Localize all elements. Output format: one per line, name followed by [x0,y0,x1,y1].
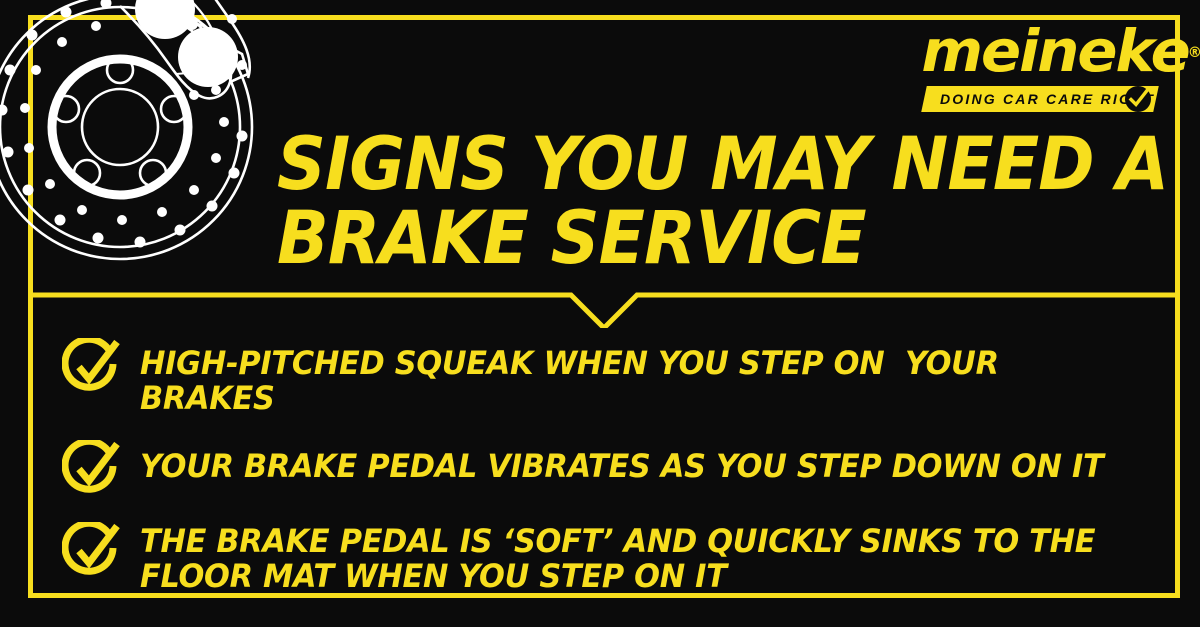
brake-rotor-illustration [0,0,300,292]
brand-name: meineke [921,17,1188,85]
brand-wordmark: meineke ® [921,22,1188,80]
check-circle-icon [62,440,122,498]
brand-tagline: DOING CAR CARE RIGHT [940,86,1155,112]
title-line-1: SIGNS YOU MAY NEED A [277,128,1049,202]
list-item-label: YOUR BRAKE PEDAL VIBRATES AS YOU STEP DO… [140,440,1103,484]
check-circle-icon [62,522,122,580]
list-item: THE BRAKE PEDAL IS ‘SOFT’ AND QUICKLY SI… [62,522,1162,594]
brand-tagline-banner: DOING CAR CARE RIGHT [924,86,1156,112]
meineke-logo: meineke ® DOING CAR CARE RIGHT [924,22,1156,112]
list-item-label: THE BRAKE PEDAL IS ‘SOFT’ AND QUICKLY SI… [140,522,1095,594]
check-circle-icon [1124,85,1152,113]
list-item-label: HIGH-PITCHED SQUEAK WHEN YOU STEP ON YOU… [140,338,1111,416]
list-item: HIGH-PITCHED SQUEAK WHEN YOU STEP ON YOU… [62,338,1162,416]
signs-checklist: HIGH-PITCHED SQUEAK WHEN YOU STEP ON YOU… [62,338,1162,594]
page-title: SIGNS YOU MAY NEED A BRAKE SERVICE [277,128,1107,276]
brake-service-infographic: meineke ® DOING CAR CARE RIGHT SIGNS YOU… [0,0,1200,627]
list-item: YOUR BRAKE PEDAL VIBRATES AS YOU STEP DO… [62,440,1162,498]
registered-trademark-icon: ® [1188,24,1200,82]
title-line-2: BRAKE SERVICE [277,202,1049,276]
check-circle-icon [62,338,122,396]
divider-notch-line [28,295,1180,328]
